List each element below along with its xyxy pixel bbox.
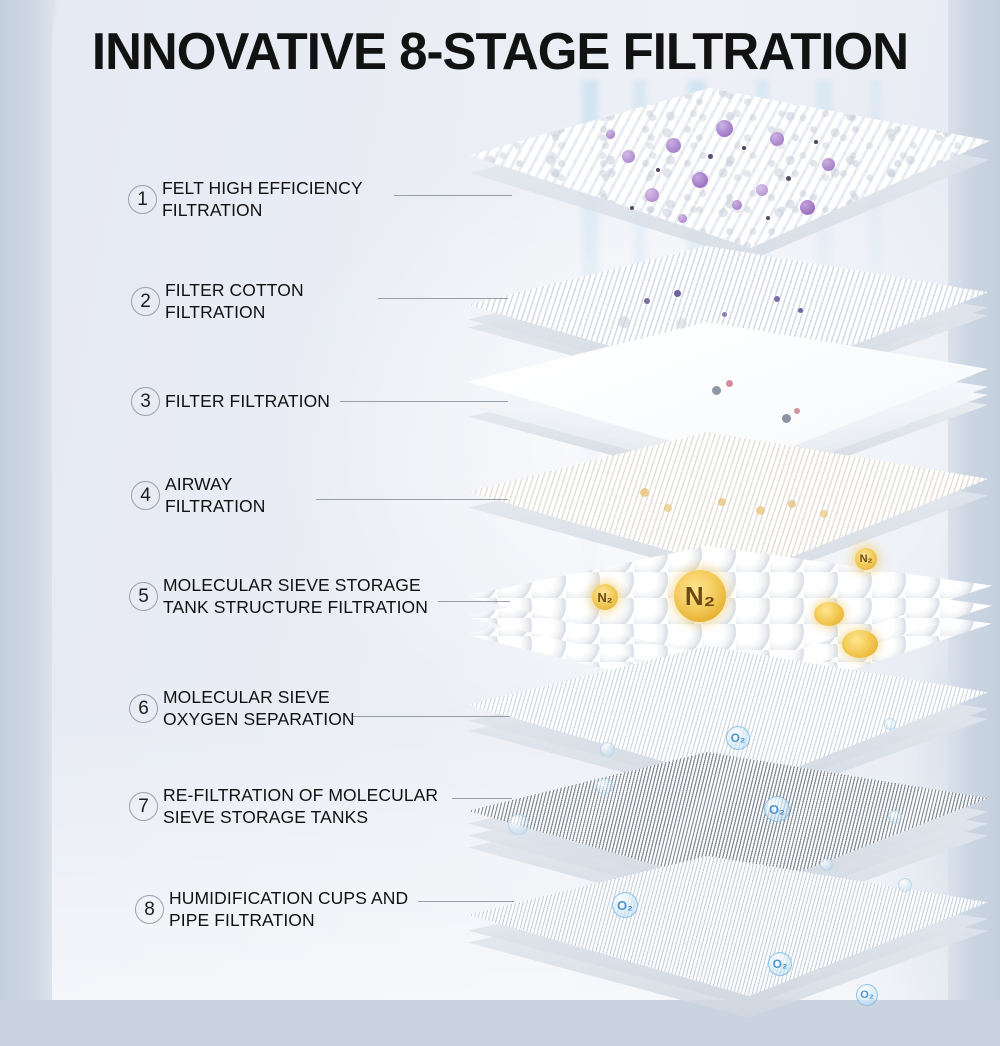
leader-line-3 [340, 401, 508, 402]
leader-line-2 [378, 298, 508, 299]
leader-line-8 [418, 901, 514, 902]
leader-line-5 [438, 601, 510, 602]
leader-line-6 [352, 716, 510, 717]
stage-label-4[interactable]: 4 AIRWAY FILTRATION [131, 474, 266, 517]
page-title: INNOVATIVE 8-STAGE FILTRATION [10, 22, 990, 82]
nitrogen-badge-main: N₂ [674, 570, 726, 622]
stage-number-8: 8 [135, 895, 164, 924]
infographic-canvas: INNOVATIVE 8-STAGE FILTRATION [0, 0, 1000, 1000]
stage-number-3: 3 [131, 387, 160, 416]
stage-number-7: 7 [129, 792, 158, 821]
leader-line-4 [316, 499, 508, 500]
stage-text-4: AIRWAY FILTRATION [165, 474, 266, 517]
stage-label-5[interactable]: 5 MOLECULAR SIEVE STORAGE TANK STRUCTURE… [129, 575, 428, 618]
stage-text-8: HUMIDIFICATION CUPS AND PIPE FILTRATION [169, 888, 408, 931]
stage-text-2: FILTER COTTON FILTRATION [165, 280, 304, 323]
stage-label-8[interactable]: 8 HUMIDIFICATION CUPS AND PIPE FILTRATIO… [135, 888, 408, 931]
stage-text-7: RE-FILTRATION OF MOLECULAR SIEVE STORAGE… [163, 785, 438, 828]
stage-text-1: FELT HIGH EFFICIENCY FILTRATION [162, 178, 363, 221]
stage-label-1[interactable]: 1 FELT HIGH EFFICIENCY FILTRATION [128, 178, 363, 221]
oxygen-badge-2: O₂ [764, 796, 790, 822]
nitrogen-badge-right: N₂ [855, 548, 877, 570]
left-edge-band [0, 0, 52, 1000]
oxygen-badge-3: O₂ [612, 892, 638, 918]
stage-text-3: FILTER FILTRATION [165, 391, 330, 413]
oxygen-badge-4: O₂ [768, 952, 792, 976]
layer-humidification: O₂ O₂ O₂ [468, 856, 988, 1046]
nitrogen-bead-a [814, 602, 844, 626]
layer-8-surface [468, 856, 988, 996]
oxygen-badge-1: O₂ [726, 726, 750, 750]
oxygen-badge-5: O₂ [856, 984, 878, 1006]
stage-number-4: 4 [131, 481, 160, 510]
stage-label-7[interactable]: 7 RE-FILTRATION OF MOLECULAR SIEVE STORA… [129, 785, 438, 828]
stage-text-6: MOLECULAR SIEVE OXYGEN SEPARATION [163, 687, 355, 730]
stage-number-5: 5 [129, 582, 158, 611]
layer-1-surface [470, 88, 990, 248]
nitrogen-badge-left: N₂ [592, 584, 618, 610]
stage-text-5: MOLECULAR SIEVE STORAGE TANK STRUCTURE F… [163, 575, 428, 618]
stage-number-6: 6 [129, 694, 158, 723]
stage-number-2: 2 [131, 287, 160, 316]
leader-line-1 [394, 195, 512, 196]
stage-label-6[interactable]: 6 MOLECULAR SIEVE OXYGEN SEPARATION [129, 687, 355, 730]
leader-line-7 [452, 798, 512, 799]
stage-label-3[interactable]: 3 FILTER FILTRATION [131, 387, 330, 416]
stage-number-1: 1 [128, 185, 157, 214]
stage-label-2[interactable]: 2 FILTER COTTON FILTRATION [131, 280, 304, 323]
